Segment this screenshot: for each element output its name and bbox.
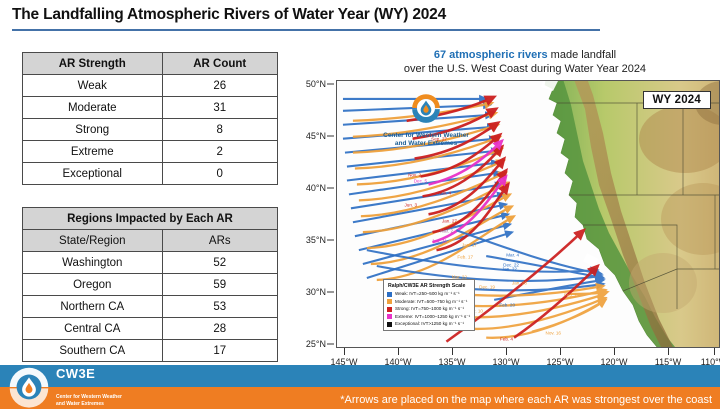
ar-date-label: Nov. 4 xyxy=(438,191,451,196)
footer-brand-name: CW3E xyxy=(56,365,95,380)
cell-region-count: 52 xyxy=(162,252,277,274)
logo-line-2: and Water Extremes xyxy=(395,140,457,147)
y-tick-label: 50°N xyxy=(306,79,326,89)
cell-strength-label: Strong xyxy=(23,119,163,141)
map-headline: 67 atmospheric rivers made landfall over… xyxy=(330,48,720,76)
legend-item: Exceptional: IVT>1250 kg m⁻¹ s⁻¹ xyxy=(387,321,470,327)
table-row: Southern CA 17 xyxy=(23,340,278,362)
legend-label: Exceptional: IVT>1250 kg m⁻¹ s⁻¹ xyxy=(395,321,464,327)
footer-blue-band xyxy=(0,365,720,387)
legend-swatch xyxy=(387,292,392,297)
ar-date-label: Mar. 2 xyxy=(440,229,453,234)
cw3e-map-logo: Center for Western Weather and Water Ext… xyxy=(373,91,479,148)
footer-sub-line-2: and Water Extremes xyxy=(56,401,104,407)
page-title: The Landfalling Atmospheric Rivers of Wa… xyxy=(12,6,612,24)
legend-swatch xyxy=(387,314,392,319)
cell-region-label: Southern CA xyxy=(23,340,163,362)
footer-brand-subtitle: Center for Western Weather and Water Ext… xyxy=(56,394,122,407)
col-state-region: State/Region xyxy=(23,230,163,252)
footer-sub-line-1: Center for Western Weather xyxy=(56,394,122,400)
cell-strength-count: 2 xyxy=(162,141,278,163)
table-row: Northern CA 53 xyxy=(23,296,278,318)
ar-date-label: Feb. 17 xyxy=(457,255,473,260)
cw3e-footer-logo-icon xyxy=(6,365,52,409)
table-row: Extreme 2 xyxy=(23,141,278,163)
y-tick-label: 45°N xyxy=(306,131,326,141)
ar-date-label: Jan. 22 xyxy=(502,267,517,272)
title-block: The Landfalling Atmospheric Rivers of Wa… xyxy=(12,6,612,24)
table-row: Central CA 28 xyxy=(23,318,278,340)
legend-item: Weak: IVT=250–500 kg m⁻¹ s⁻¹ xyxy=(387,291,470,297)
cell-strength-count: 26 xyxy=(162,75,278,97)
slide-root: The Landfalling Atmospheric Rivers of Wa… xyxy=(0,0,720,409)
cell-region-count: 28 xyxy=(162,318,277,340)
cell-region-label: Oregon xyxy=(23,274,163,296)
cell-strength-label: Exceptional xyxy=(23,163,163,185)
ar-date-label: Nov. 16 xyxy=(546,331,562,336)
y-tick-label: 35°N xyxy=(306,235,326,245)
footer-brand: CW3E xyxy=(56,365,95,387)
ar-date-label: Jan. 27 xyxy=(442,219,457,224)
cell-strength-label: Moderate xyxy=(23,97,163,119)
water-year-badge: WY 2024 xyxy=(643,91,712,109)
legend-label: Weak: IVT=250–500 kg m⁻¹ s⁻¹ xyxy=(395,291,460,297)
table-row: Oregon 59 xyxy=(23,274,278,296)
table-header-row: AR Strength AR Count xyxy=(23,53,278,75)
regions-impacted-table: Regions Impacted by Each AR State/Region… xyxy=(22,207,278,362)
cell-region-count: 59 xyxy=(162,274,277,296)
cell-region-count: 17 xyxy=(162,340,277,362)
cw3e-map-logo-text: Center for Western Weather and Water Ext… xyxy=(373,132,479,148)
ar-date-label: Jan. 20 xyxy=(512,281,527,286)
legend-item: Moderate: IVT=500–750 kg m⁻¹ s⁻¹ xyxy=(387,299,470,305)
ar-date-label: Jan. 31 xyxy=(432,239,447,244)
ar-landfall-map-figure: 50°N 45°N 40°N 35°N 30°N 25°N xyxy=(300,80,720,365)
cell-region-label: Washington xyxy=(23,252,163,274)
legend-item: Extreme: IVT=1000–1250 kg m⁻¹ s⁻¹ xyxy=(387,314,470,320)
table-header-row: State/Region ARs xyxy=(23,230,278,252)
cell-strength-count: 31 xyxy=(162,97,278,119)
y-tick-label: 40°N xyxy=(306,183,326,193)
ar-date-label: Mar. 4 xyxy=(506,253,519,258)
y-tick-label: 30°N xyxy=(306,287,326,297)
cell-region-count: 53 xyxy=(162,296,277,318)
ar-date-label: Feb. 1 xyxy=(564,293,577,298)
ar-date-label: Dec. 5 xyxy=(414,179,427,184)
cell-region-label: Northern CA xyxy=(23,296,163,318)
map-y-axis: 50°N 45°N 40°N 35°N 30°N 25°N xyxy=(300,80,336,348)
legend-swatch xyxy=(387,307,392,312)
cell-strength-count: 0 xyxy=(162,163,278,185)
ar-date-label: Nov. 2 xyxy=(408,173,421,178)
footer-note: *Arrows are placed on the map where each… xyxy=(340,394,712,406)
legend-label: Strong: IVT=750–1000 kg m⁻¹ s⁻¹ xyxy=(395,306,464,312)
legend-label: Moderate: IVT=500–750 kg m⁻¹ s⁻¹ xyxy=(395,299,467,305)
table-row: Moderate 31 xyxy=(23,97,278,119)
ar-date-label: Jun. 3 xyxy=(404,203,417,208)
legend-title: Ralph/CW3E AR Strength Scale xyxy=(387,283,470,289)
table-row: Weak 26 xyxy=(23,75,278,97)
table-row: Washington 52 xyxy=(23,252,278,274)
legend-label: Extreme: IVT=1000–1250 kg m⁻¹ s⁻¹ xyxy=(395,314,470,320)
cell-strength-label: Extreme xyxy=(23,141,163,163)
logo-line-1: Center for Western Weather xyxy=(383,132,469,139)
map-canvas[interactable]: Oct. 18Sep. 27Nov. 2Dec. 5Nov. 4Jun. 3Ja… xyxy=(336,80,720,348)
ar-strength-table: AR Strength AR Count Weak 26 Moderate 31… xyxy=(22,52,278,185)
table-row: Exceptional 0 xyxy=(23,163,278,185)
table-row: Strong 8 xyxy=(23,119,278,141)
col-ar-count: AR Count xyxy=(162,53,278,75)
col-ar-strength: AR Strength xyxy=(23,53,163,75)
cw3e-logo-icon xyxy=(409,91,443,125)
ar-date-label: Jan. 17 xyxy=(462,243,477,248)
legend-swatch xyxy=(387,299,392,304)
headline-rest: made landfall xyxy=(548,49,617,61)
regions-table-caption: Regions Impacted by Each AR xyxy=(23,208,278,230)
col-ars: ARs xyxy=(162,230,277,252)
ar-date-label: Dec. 19 xyxy=(479,285,495,290)
ar-date-label: Feb. 20 xyxy=(499,303,515,308)
legend-swatch xyxy=(387,322,392,327)
cell-strength-count: 8 xyxy=(162,119,278,141)
table-caption-row: Regions Impacted by Each AR xyxy=(23,208,278,230)
cell-strength-label: Weak xyxy=(23,75,163,97)
cell-region-label: Central CA xyxy=(23,318,163,340)
headline-line2: over the U.S. West Coast during Water Ye… xyxy=(404,63,646,75)
legend-item: Strong: IVT=750–1000 kg m⁻¹ s⁻¹ xyxy=(387,306,470,312)
ar-strength-legend: Ralph/CW3E AR Strength Scale Weak: IVT=2… xyxy=(383,279,475,331)
headline-count: 67 atmospheric rivers xyxy=(434,49,548,61)
ar-date-label: Feb. 4 xyxy=(500,337,513,342)
title-divider xyxy=(12,29,600,31)
y-tick-label: 25°N xyxy=(306,339,326,349)
legend-rows: Weak: IVT=250–500 kg m⁻¹ s⁻¹Moderate: IV… xyxy=(387,291,470,327)
